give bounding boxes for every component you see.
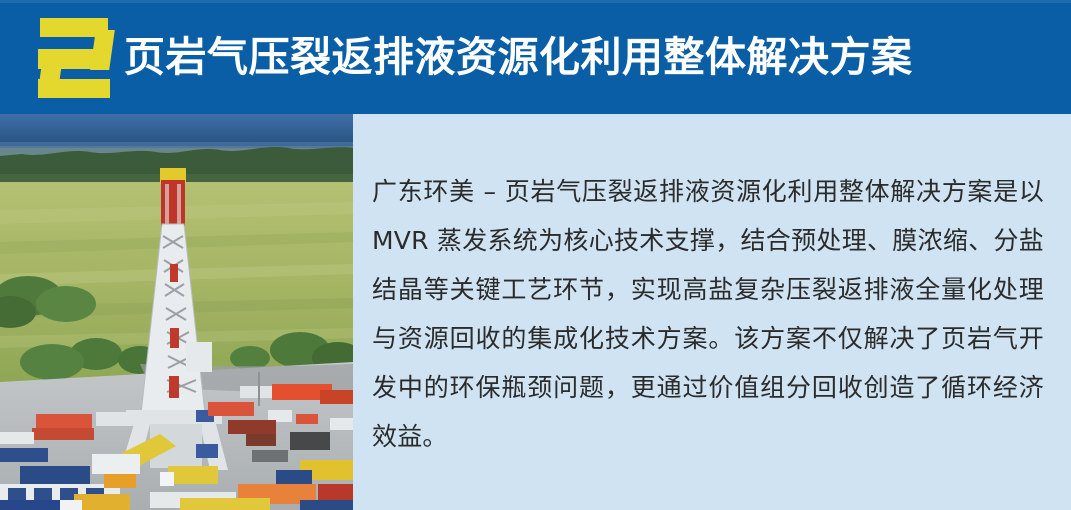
header-banner: 2 页岩气压裂返排液资源化利用整体解决方案 xyxy=(0,0,1071,114)
header-top-rule xyxy=(0,0,1071,3)
description-paragraph: 广东环美 – 页岩气压裂返排液资源化利用整体解决方案是以 MVR 蒸发系统为核心… xyxy=(372,167,1044,461)
drilling-rig-icon xyxy=(0,114,353,510)
number-segment-bottom xyxy=(38,79,110,98)
page-title: 页岩气压裂返排液资源化利用整体解决方案 xyxy=(124,37,913,78)
section-number-badge: 2 xyxy=(38,18,112,98)
rig-site-photo xyxy=(0,114,353,510)
solution-card: 2 页岩气压裂返排液资源化利用整体解决方案 xyxy=(0,0,1071,510)
